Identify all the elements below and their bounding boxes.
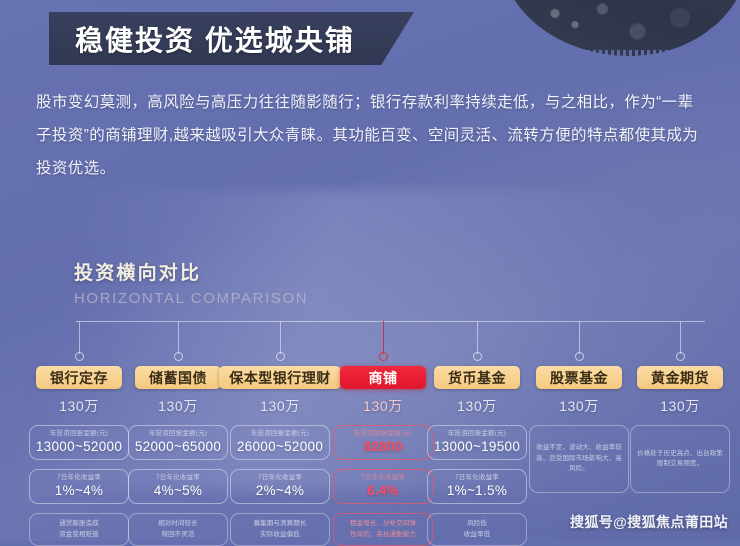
column-principal-amount: 130万: [59, 396, 99, 416]
annual-return-box: 年投资回报金额(元)13000~19500: [427, 425, 527, 460]
seven-day-yield-value: 2%~4%: [256, 482, 304, 499]
comparison-column[interactable]: 货币基金130万年投资回报金额(元)13000~195007日年化收益率1%~1…: [423, 366, 531, 546]
seven-day-yield-box: 7日年化收益率6.4%: [333, 469, 433, 504]
seven-day-yield-box: 7日年化收益率1%~1.5%: [427, 469, 527, 504]
column-note: 相对时间较长赎回不灵活: [128, 513, 228, 546]
column-principal-amount: 130万: [260, 396, 300, 416]
column-title-pill[interactable]: 商铺: [340, 366, 426, 389]
timeline-dot: [676, 352, 685, 361]
annual-return-value: 26000~52000: [237, 438, 323, 455]
seven-day-yield-label: 7日年化收益率: [361, 473, 405, 482]
column-title-pill[interactable]: 货币基金: [434, 366, 520, 389]
timeline-stem: [178, 321, 179, 354]
annual-return-box: 年投资回报金额(元)52000~65000: [128, 425, 228, 460]
watermark: 搜狐号@搜狐焦点莆田站: [570, 512, 728, 532]
timeline-dot: [276, 352, 285, 361]
timeline-stem: [383, 321, 384, 354]
timeline-stem: [477, 321, 478, 354]
comparison-column[interactable]: 储蓄国债130万年投资回报金额(元)52000~650007日年化收益率4%~5…: [124, 366, 232, 546]
seven-day-yield-label: 7日年化收益率: [455, 473, 499, 482]
annual-return-label: 年投资回报金额(元): [149, 429, 207, 438]
column-note: 通货膨胀造成资金变相贬值: [29, 513, 129, 546]
seven-day-yield-label: 7日年化收益率: [57, 473, 101, 482]
timeline-dot: [379, 352, 388, 361]
column-note: 募集期与清算期长实际收益偏低: [230, 513, 330, 546]
seven-day-yield-value: 4%~5%: [154, 482, 202, 499]
timeline-stem: [680, 321, 681, 354]
intro-paragraph: 股市变幻莫测，高风险与高压力往往随影随行；银行存款利率持续走低，与之相比，作为“…: [36, 86, 708, 185]
timeline-axis: [76, 321, 705, 322]
column-title-pill[interactable]: 保本型银行理财: [219, 366, 341, 389]
column-principal-amount: 130万: [363, 396, 403, 416]
annual-return-box: 年投资回报金额(元)13000~52000: [29, 425, 129, 460]
column-principal-amount: 130万: [457, 396, 497, 416]
seven-day-yield-value: 6.4%: [367, 482, 399, 499]
title-banner: 稳健投资 优选城央铺: [49, 12, 414, 65]
timeline-stem: [280, 321, 281, 354]
column-title-pill[interactable]: 储蓄国债: [135, 366, 221, 389]
annual-return-label: 年投资回报金额(元): [251, 429, 309, 438]
seven-day-yield-label: 7日年化收益率: [156, 473, 200, 482]
annual-return-value: 13000~52000: [36, 438, 122, 455]
annual-return-label: 年投资回报金额(元): [354, 429, 412, 438]
seven-day-yield-box: 7日年化收益率1%~4%: [29, 469, 129, 504]
comparison-timeline: [0, 320, 740, 370]
annual-return-box: 年投资回报金额(元)26000~52000: [230, 425, 330, 460]
comparison-column[interactable]: 股票基金130万收益不定、波动大、收益率较高、且受国际市场影响大、高风险。: [525, 366, 633, 493]
annual-return-label: 年投资回报金额(元): [448, 429, 506, 438]
seven-day-yield-label: 7日年化收益率: [258, 473, 302, 482]
annual-return-value: 13000~19500: [434, 438, 520, 455]
seven-day-yield-box: 7日年化收益率2%~4%: [230, 469, 330, 504]
comparison-column[interactable]: 商铺130万年投资回报金额(元)828007日年化收益率6.4%租金增长、分析空…: [329, 366, 437, 546]
column-title-pill[interactable]: 银行定存: [36, 366, 122, 389]
comparison-column[interactable]: 黄金期货130万价格处于历史高点、出台政策限制交易频度。: [626, 366, 734, 493]
annual-return-label: 年投资回报金额(元): [50, 429, 108, 438]
page-title: 稳健投资 优选城央铺: [75, 19, 355, 59]
column-principal-amount: 130万: [559, 396, 599, 416]
seven-day-yield-value: 1%~4%: [55, 482, 103, 499]
column-note: 租金增长、分析空间弹性风险、高抗通胀能力: [333, 513, 433, 546]
annual-return-value: 82800: [363, 438, 402, 455]
column-note: 风险低收益率低: [427, 513, 527, 546]
section-title-en: HORIZONTAL COMPARISON: [74, 290, 308, 307]
column-principal-amount: 130万: [158, 396, 198, 416]
annual-return-value: 52000~65000: [135, 438, 221, 455]
comparison-column[interactable]: 银行定存130万年投资回报金额(元)13000~520007日年化收益率1%~4…: [25, 366, 133, 546]
section-title-cn: 投资横向对比: [74, 258, 308, 285]
timeline-dot: [473, 352, 482, 361]
column-note: 价格处于历史高点、出台政策限制交易频度。: [630, 425, 730, 493]
timeline-dot: [75, 352, 84, 361]
column-principal-amount: 130万: [660, 396, 700, 416]
annual-return-box: 年投资回报金额(元)82800: [333, 425, 433, 460]
column-title-pill[interactable]: 黄金期货: [637, 366, 723, 389]
section-heading: 投资横向对比 HORIZONTAL COMPARISON: [74, 258, 308, 307]
comparison-column[interactable]: 保本型银行理财130万年投资回报金额(元)26000~520007日年化收益率2…: [226, 366, 334, 546]
timeline-stem: [79, 321, 80, 354]
timeline-stem: [579, 321, 580, 354]
column-title-pill[interactable]: 股票基金: [536, 366, 622, 389]
timeline-dot: [575, 352, 584, 361]
timeline-dot: [174, 352, 183, 361]
seven-day-yield-value: 1%~1.5%: [447, 482, 507, 499]
column-note: 收益不定、波动大、收益率较高、且受国际市场影响大、高风险。: [529, 425, 629, 493]
seven-day-yield-box: 7日年化收益率4%~5%: [128, 469, 228, 504]
